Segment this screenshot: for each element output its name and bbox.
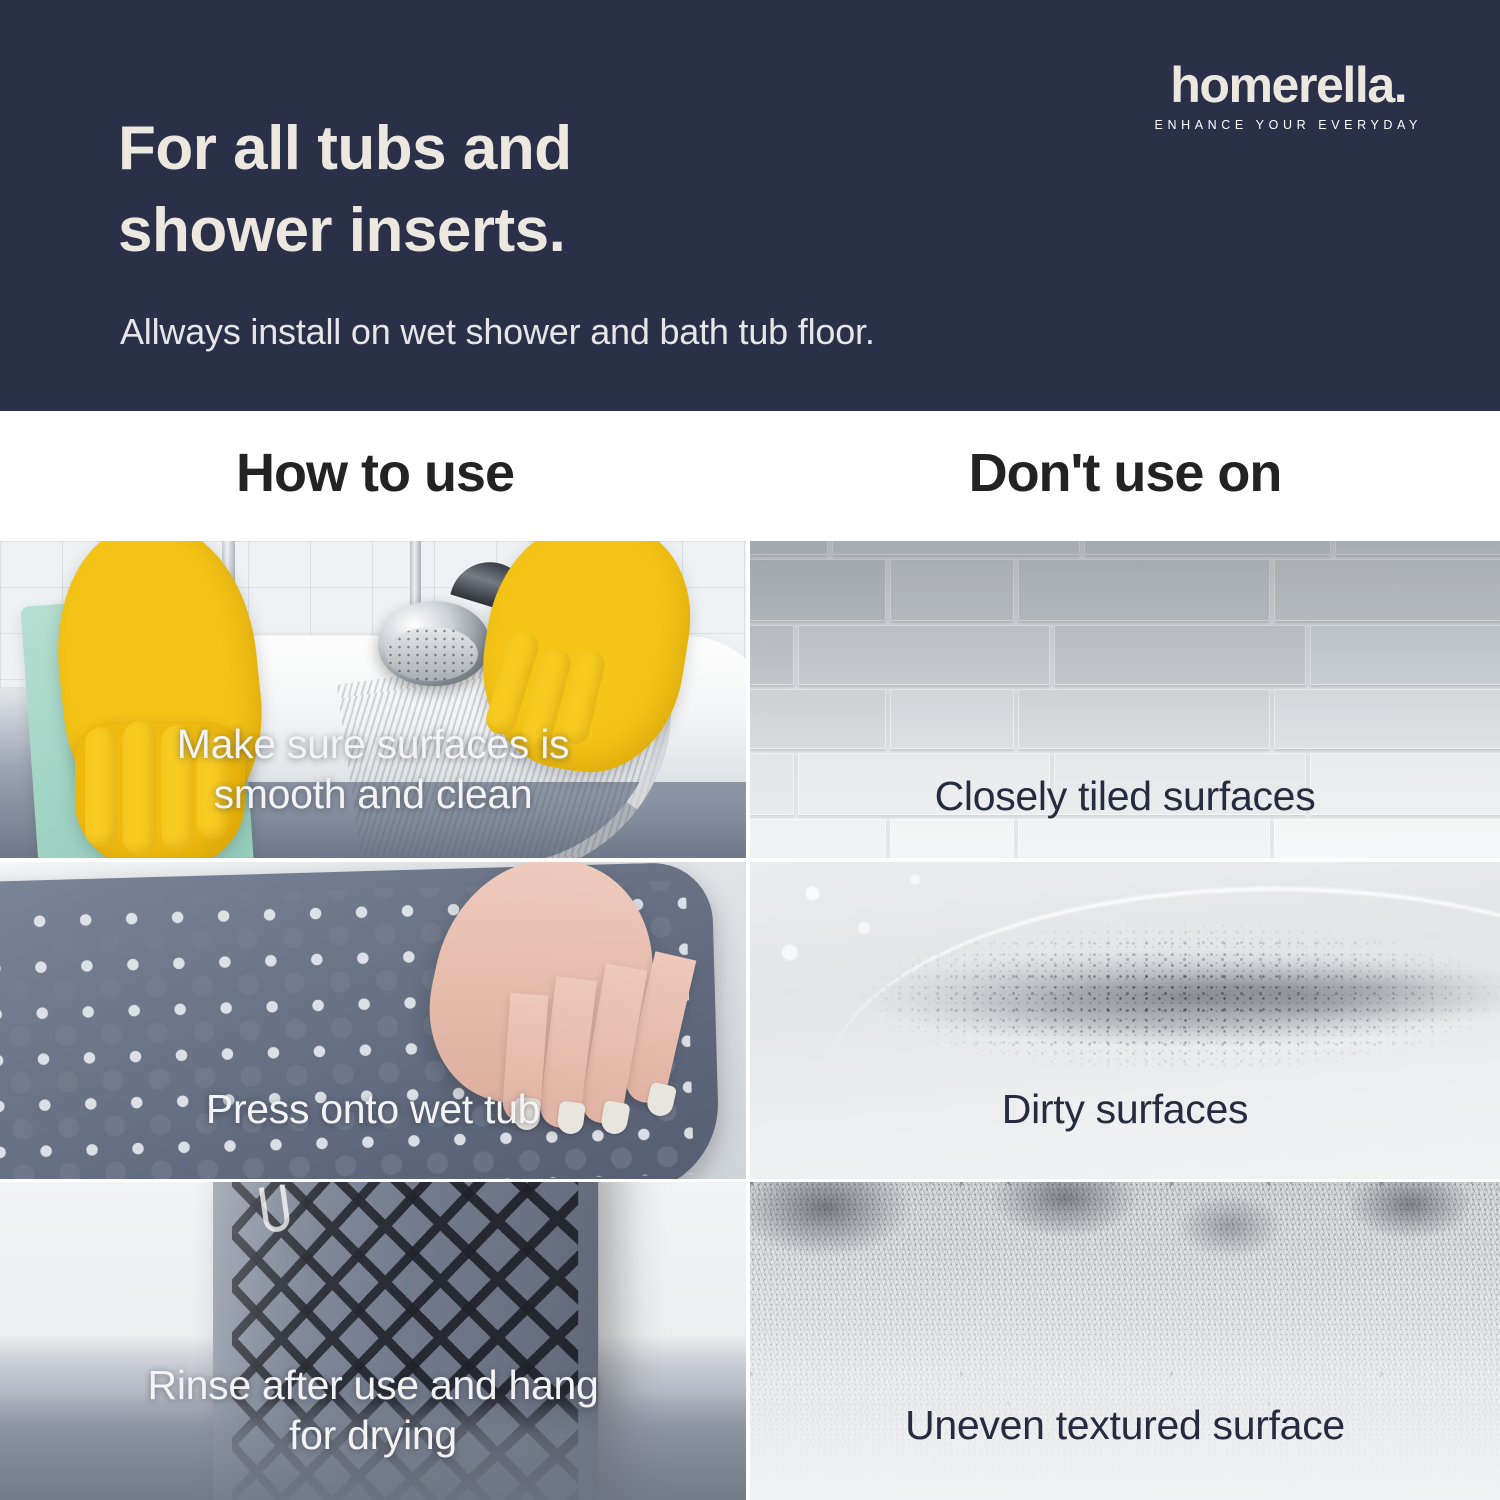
step-1-caption: Make sure surfaces is smooth and clean <box>0 719 746 819</box>
step-2-caption: Press onto wet tub <box>0 1084 746 1134</box>
pressing-mat-photo: Press onto wet tub <box>0 862 746 1179</box>
tiled-wall-photo: Closely tiled surfaces <box>750 541 1500 858</box>
warning-3-cell: Uneven textured surface <box>750 1182 1500 1500</box>
page-subtitle: Allways install on wet shower and bath t… <box>120 310 1280 353</box>
brand-logo: homerella. ENHANCE YOUR EVERYDAY <box>1155 60 1422 132</box>
infographic-page: For all tubs and shower inserts. Allways… <box>0 0 1500 1500</box>
heading-how-to-use: How to use <box>0 446 750 500</box>
heading-dont-use-on: Don't use on <box>750 446 1500 500</box>
uneven-stone-photo: Uneven textured surface <box>750 1182 1500 1500</box>
brand-tagline: ENHANCE YOUR EVERYDAY <box>1155 119 1422 132</box>
step-3-caption: Rinse after use and hang for drying <box>0 1360 746 1460</box>
warning-1-caption: Closely tiled surfaces <box>750 771 1500 821</box>
step-3-cell: Rinse after use and hang for drying <box>0 1182 746 1500</box>
step-2-cell: Press onto wet tub <box>0 862 746 1179</box>
warning-2-cell: Dirty surfaces <box>750 862 1500 1179</box>
warning-2-caption: Dirty surfaces <box>750 1084 1500 1134</box>
step-1-cell: Make sure surfaces is smooth and clean <box>0 541 746 858</box>
hanging-mat-photo: Rinse after use and hang for drying <box>0 1182 746 1500</box>
cleaning-photo: Make sure surfaces is smooth and clean <box>0 541 746 858</box>
dirty-tub-photo: Dirty surfaces <box>750 862 1500 1179</box>
page-title: For all tubs and shower inserts. <box>118 108 878 272</box>
shower-head-icon <box>378 601 490 686</box>
warning-1-cell: Closely tiled surfaces <box>750 541 1500 858</box>
header-banner: For all tubs and shower inserts. Allways… <box>0 0 1500 411</box>
stone-grain-icon <box>750 1182 1500 1500</box>
photo-grid: Make sure surfaces is smooth and clean <box>0 541 1500 1500</box>
warning-3-caption: Uneven textured surface <box>750 1400 1500 1450</box>
column-headings: How to use Don't use on <box>0 411 1500 541</box>
brand-name: homerella. <box>1155 60 1422 110</box>
water-droplets-icon <box>750 862 1035 1036</box>
